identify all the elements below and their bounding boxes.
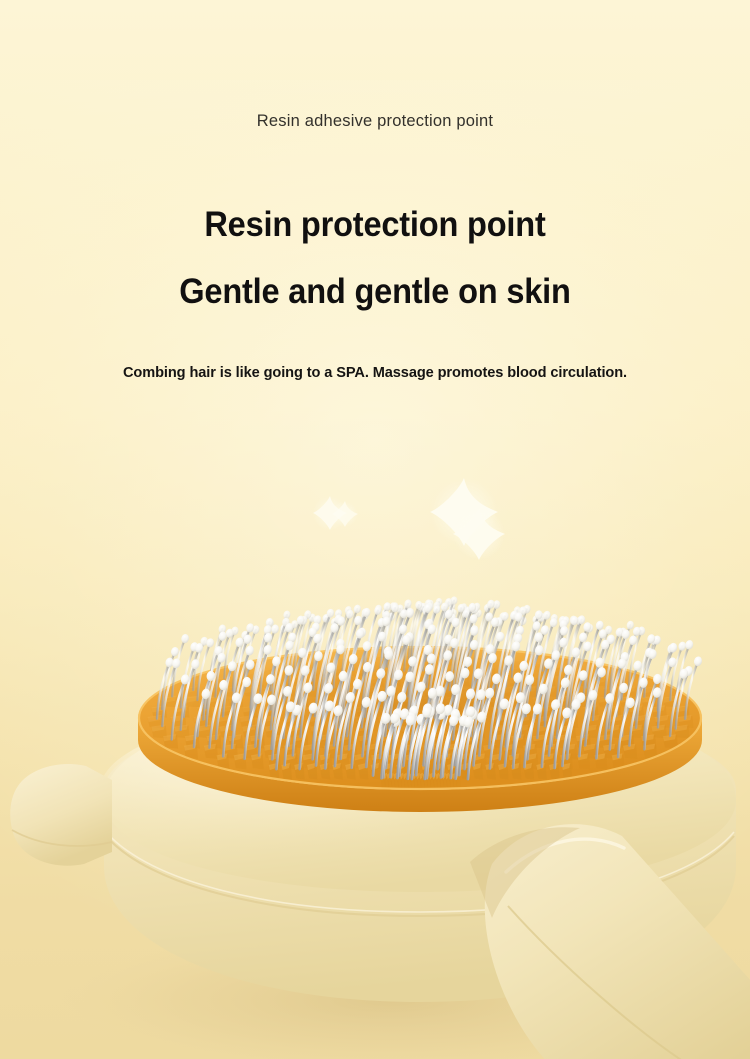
- product-promo-image: Resin adhesive protection point Resin pr…: [0, 0, 750, 1059]
- left-side-knob: [10, 764, 112, 866]
- product-svg: [0, 0, 750, 1059]
- product-illustration: [0, 0, 750, 1059]
